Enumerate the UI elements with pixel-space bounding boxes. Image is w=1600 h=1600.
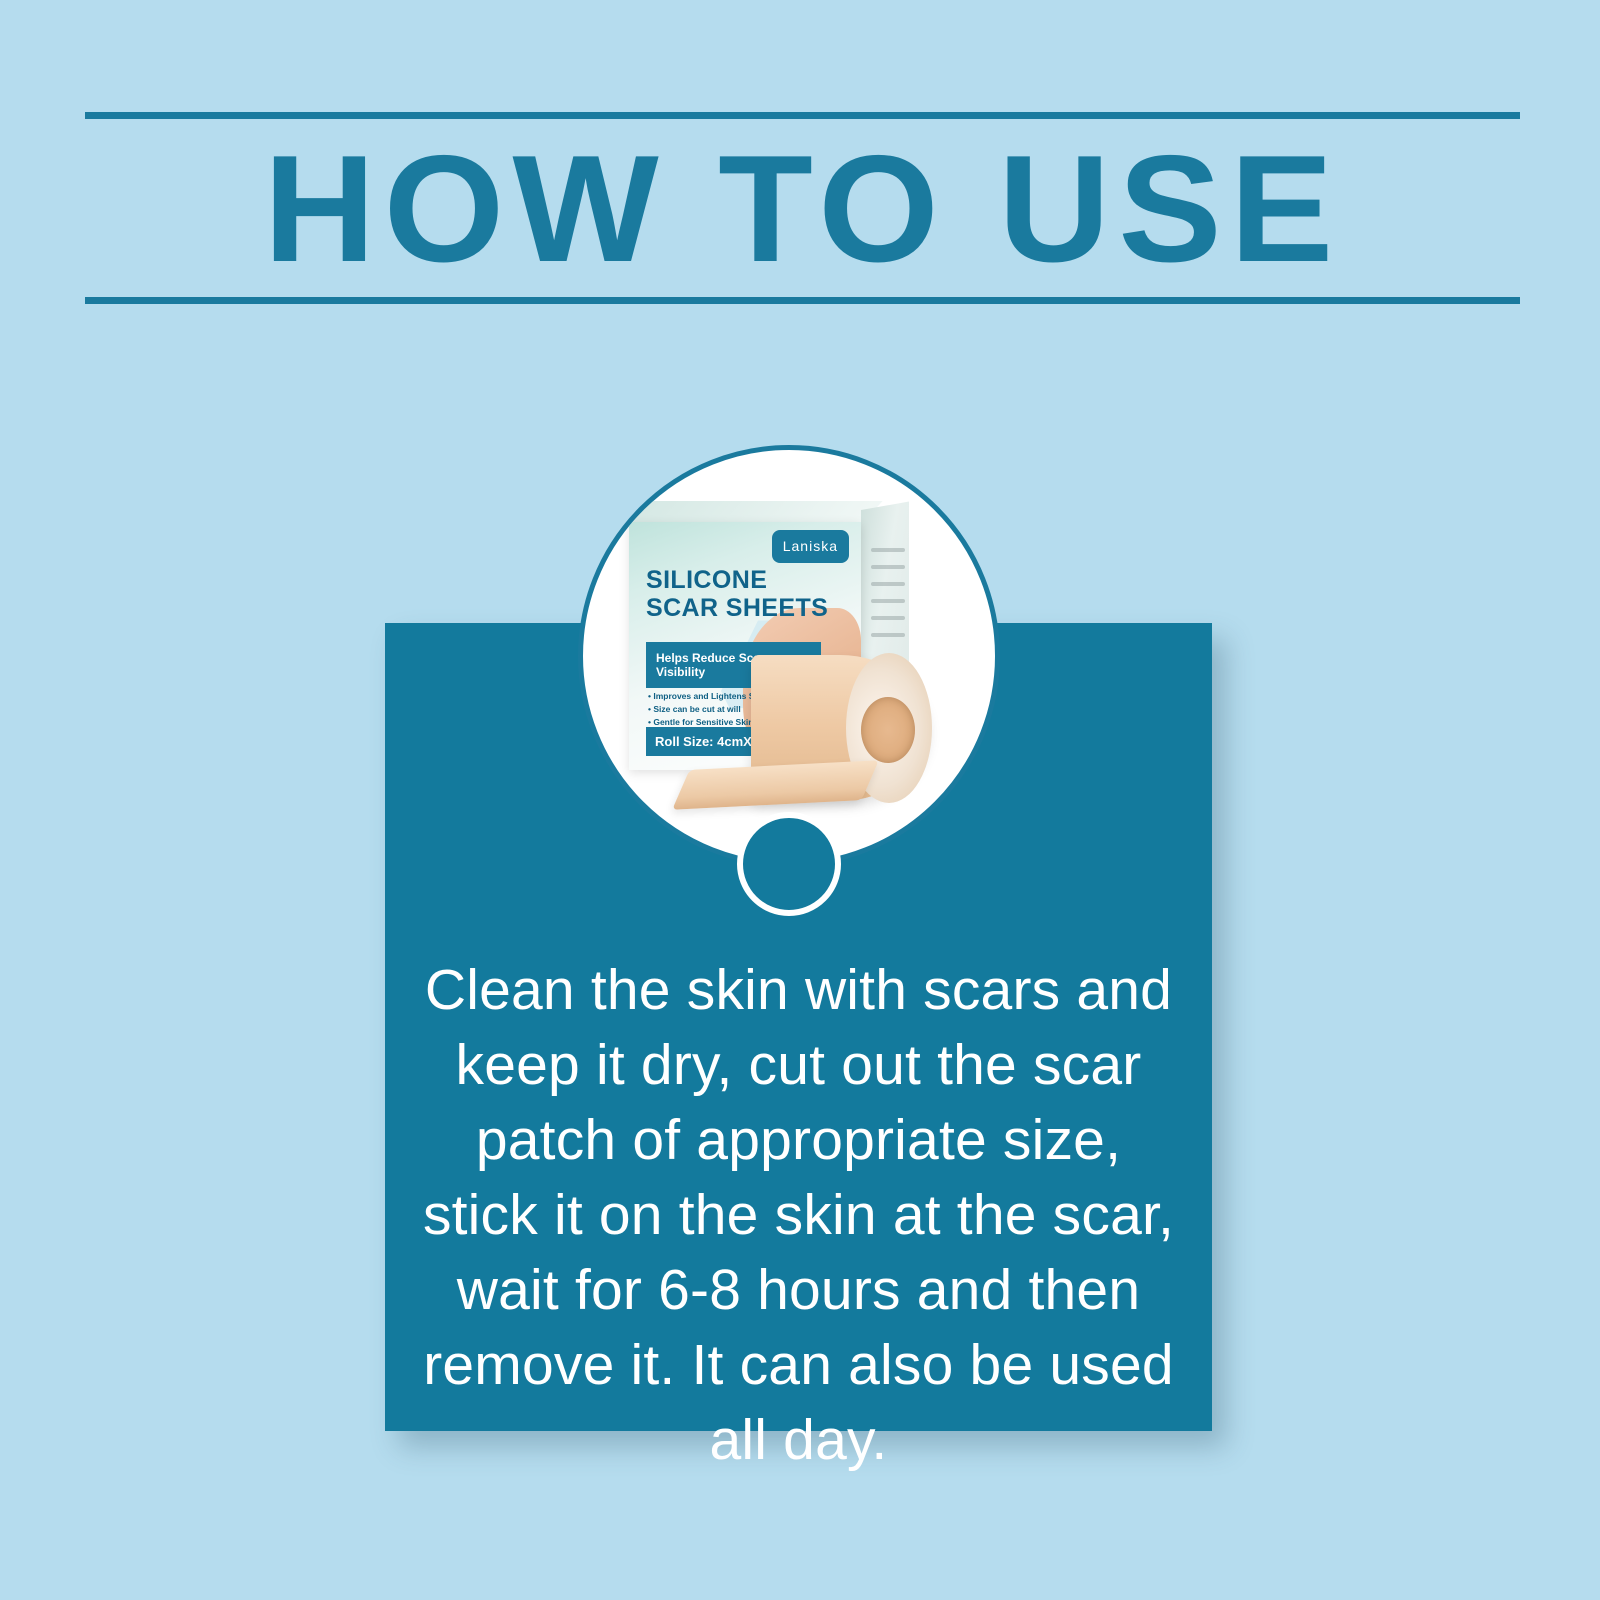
product-image-badge: Laniska SILICONE SCAR SHEETS Helps Reduc…	[578, 445, 1000, 867]
product-title-line-1: SILICONE	[646, 566, 828, 594]
instruction-text: Clean the skin with scars and keep it dr…	[385, 953, 1212, 1478]
badge-notch-circle	[737, 812, 841, 916]
page-title: HOW TO USE	[71, 119, 1535, 297]
product-title-line-2: SCAR SHEETS	[646, 594, 828, 622]
header-rule-top	[85, 112, 1520, 119]
roll-core	[861, 697, 915, 763]
product-photo: Laniska SILICONE SCAR SHEETS Helps Reduc…	[583, 450, 995, 862]
brand-logo: Laniska	[772, 530, 849, 563]
page-header: HOW TO USE	[85, 112, 1520, 304]
box-side-text-lines	[871, 548, 905, 650]
product-box-title: SILICONE SCAR SHEETS	[646, 566, 828, 622]
header-rule-bottom	[85, 297, 1520, 304]
